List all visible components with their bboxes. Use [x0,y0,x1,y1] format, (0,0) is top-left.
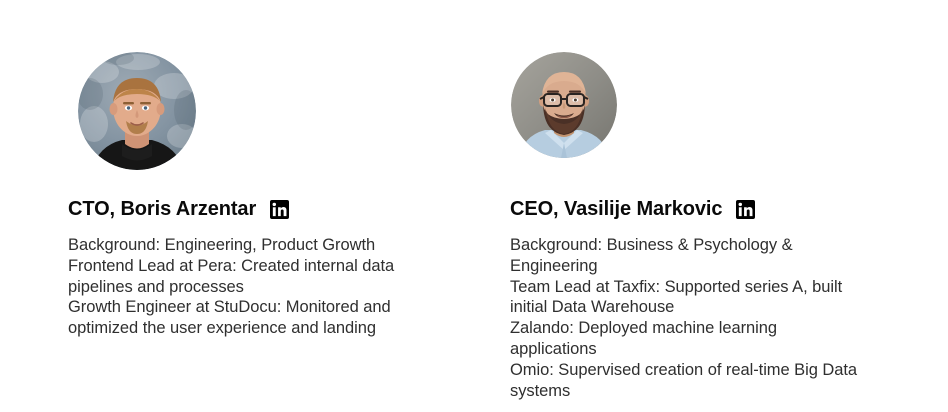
avatar [78,52,196,170]
avatar [511,52,617,158]
team-member-card-ceo: CEO, Vasilije Markovic Background: Busin… [510,0,910,158]
member-name-row: CTO, Boris Arzentar [68,197,289,221]
team-member-grid: CTO, Boris Arzentar Background: Engineer… [0,0,948,412]
member-bio: Background: Engineering, Product Growth … [68,235,413,339]
member-bio: Background: Business & Psychology & Engi… [510,235,860,401]
linkedin-icon[interactable] [736,200,755,219]
linkedin-icon[interactable] [270,200,289,219]
team-member-card-cto: CTO, Boris Arzentar Background: Engineer… [68,0,468,170]
member-name-row: CEO, Vasilije Markovic [510,197,755,221]
member-name: CEO, Vasilije Markovic [510,197,722,221]
member-name: CTO, Boris Arzentar [68,197,256,221]
